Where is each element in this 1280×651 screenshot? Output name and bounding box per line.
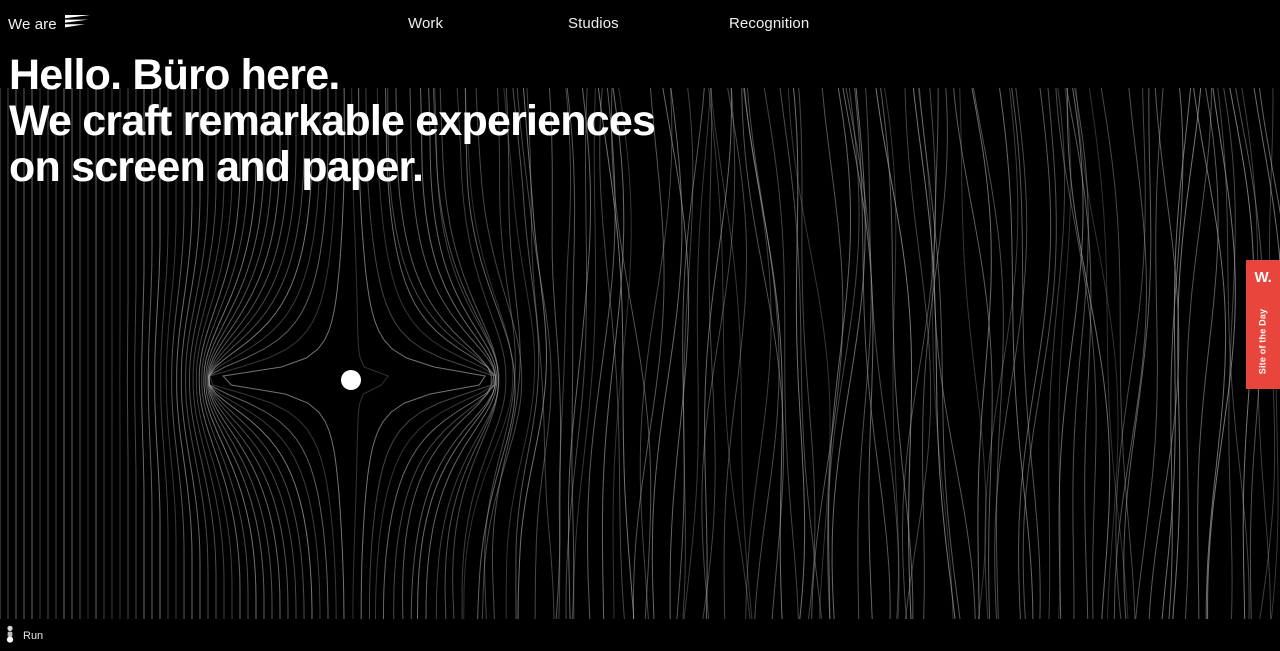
- taskbar: Run: [0, 622, 1280, 651]
- badge-label-wrap: Site of the Day: [1246, 298, 1280, 384]
- site-of-the-day-badge[interactable]: W. Site of the Day: [1246, 260, 1280, 389]
- taskbar-item-run[interactable]: Run: [0, 625, 43, 648]
- nav-item-recognition[interactable]: Recognition: [729, 14, 809, 34]
- headline-line-3: on screen and paper.: [9, 144, 655, 190]
- site-header: We are Work Studios Recognition: [0, 0, 1280, 50]
- badge-label: Site of the Day: [1259, 308, 1268, 374]
- nav-item-work[interactable]: Work: [408, 14, 443, 34]
- hero-headline: Hello. Büro here. We craft remarkable ex…: [9, 52, 655, 190]
- headline-line-1: Hello. Büro here.: [9, 52, 655, 98]
- badge-mark: W.: [1246, 270, 1280, 285]
- page-root: We are Work Studios Recognition Hello. B…: [0, 0, 1280, 651]
- nav-item-studios[interactable]: Studios: [568, 14, 619, 34]
- run-person-icon: [4, 625, 16, 648]
- taskbar-item-label: Run: [23, 631, 43, 642]
- headline-line-2: We craft remarkable experiences: [9, 98, 655, 144]
- cursor-dot: [341, 370, 361, 390]
- primary-nav: Work Studios Recognition: [0, 14, 1280, 34]
